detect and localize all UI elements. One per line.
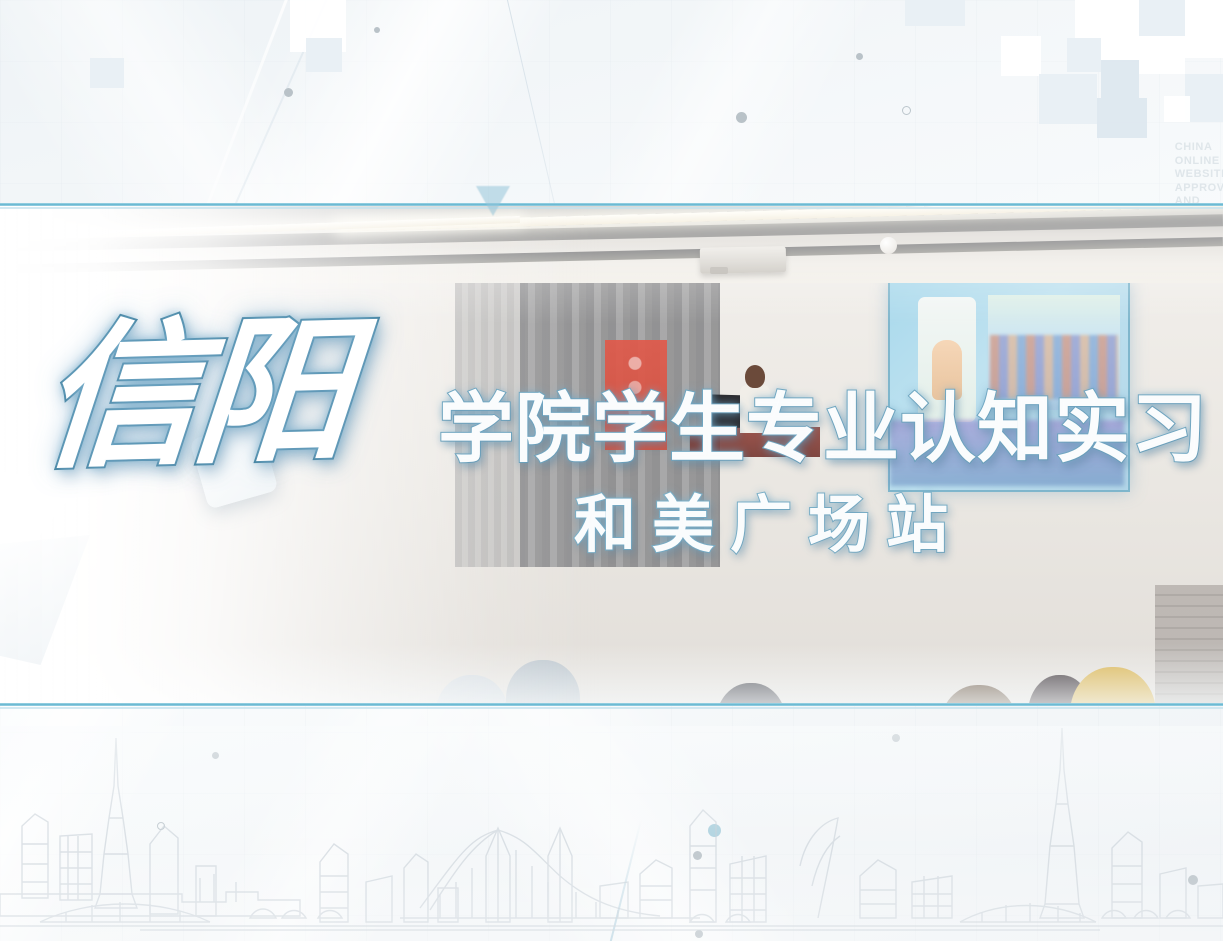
decor-dot (374, 27, 380, 33)
title-sub-line: 和美广场站 (574, 495, 964, 557)
watermark-line: APPROV (1175, 182, 1223, 196)
mosaic-square (306, 38, 342, 72)
mosaic-square (1039, 74, 1097, 124)
title-brush-calligraphy: 信阳 (35, 314, 352, 480)
mosaic-square (905, 0, 965, 26)
watermark-line: ONLINE (1175, 155, 1223, 169)
decor-dot (902, 106, 911, 115)
mosaic-square (1001, 36, 1041, 76)
divider-line-top (0, 203, 1223, 206)
decor-dot (284, 88, 293, 97)
photo-presenter-head (745, 365, 765, 388)
mosaic-square (1101, 60, 1139, 98)
mosaic-square (1164, 96, 1190, 122)
divider-line-glow (0, 207, 1223, 209)
watermark-line: WEBSITE (1175, 168, 1223, 182)
divider-line-bottom (0, 703, 1223, 706)
divider-line-glow (0, 707, 1223, 709)
mosaic-square (1067, 38, 1101, 72)
decor-dot (736, 112, 747, 123)
mosaic-square (1097, 98, 1147, 138)
down-triangle-icon (476, 186, 510, 216)
watermark-line: CHINA (1175, 141, 1223, 155)
city-skyline-illustration (0, 726, 1223, 941)
watermark-text: CHINA ONLINE WEBSITE APPROV AND (1175, 141, 1223, 209)
video-title-frame: CHINA ONLINE WEBSITE APPROV AND (0, 0, 1223, 941)
mosaic-square (90, 58, 124, 88)
decor-dot (856, 53, 863, 60)
mosaic-square (1139, 0, 1185, 36)
mosaic-square (1185, 0, 1223, 58)
mosaic-square (1139, 36, 1185, 74)
mosaic-square (1185, 74, 1223, 122)
title-main-line: 学院学生专业认知实习 (438, 392, 1208, 468)
